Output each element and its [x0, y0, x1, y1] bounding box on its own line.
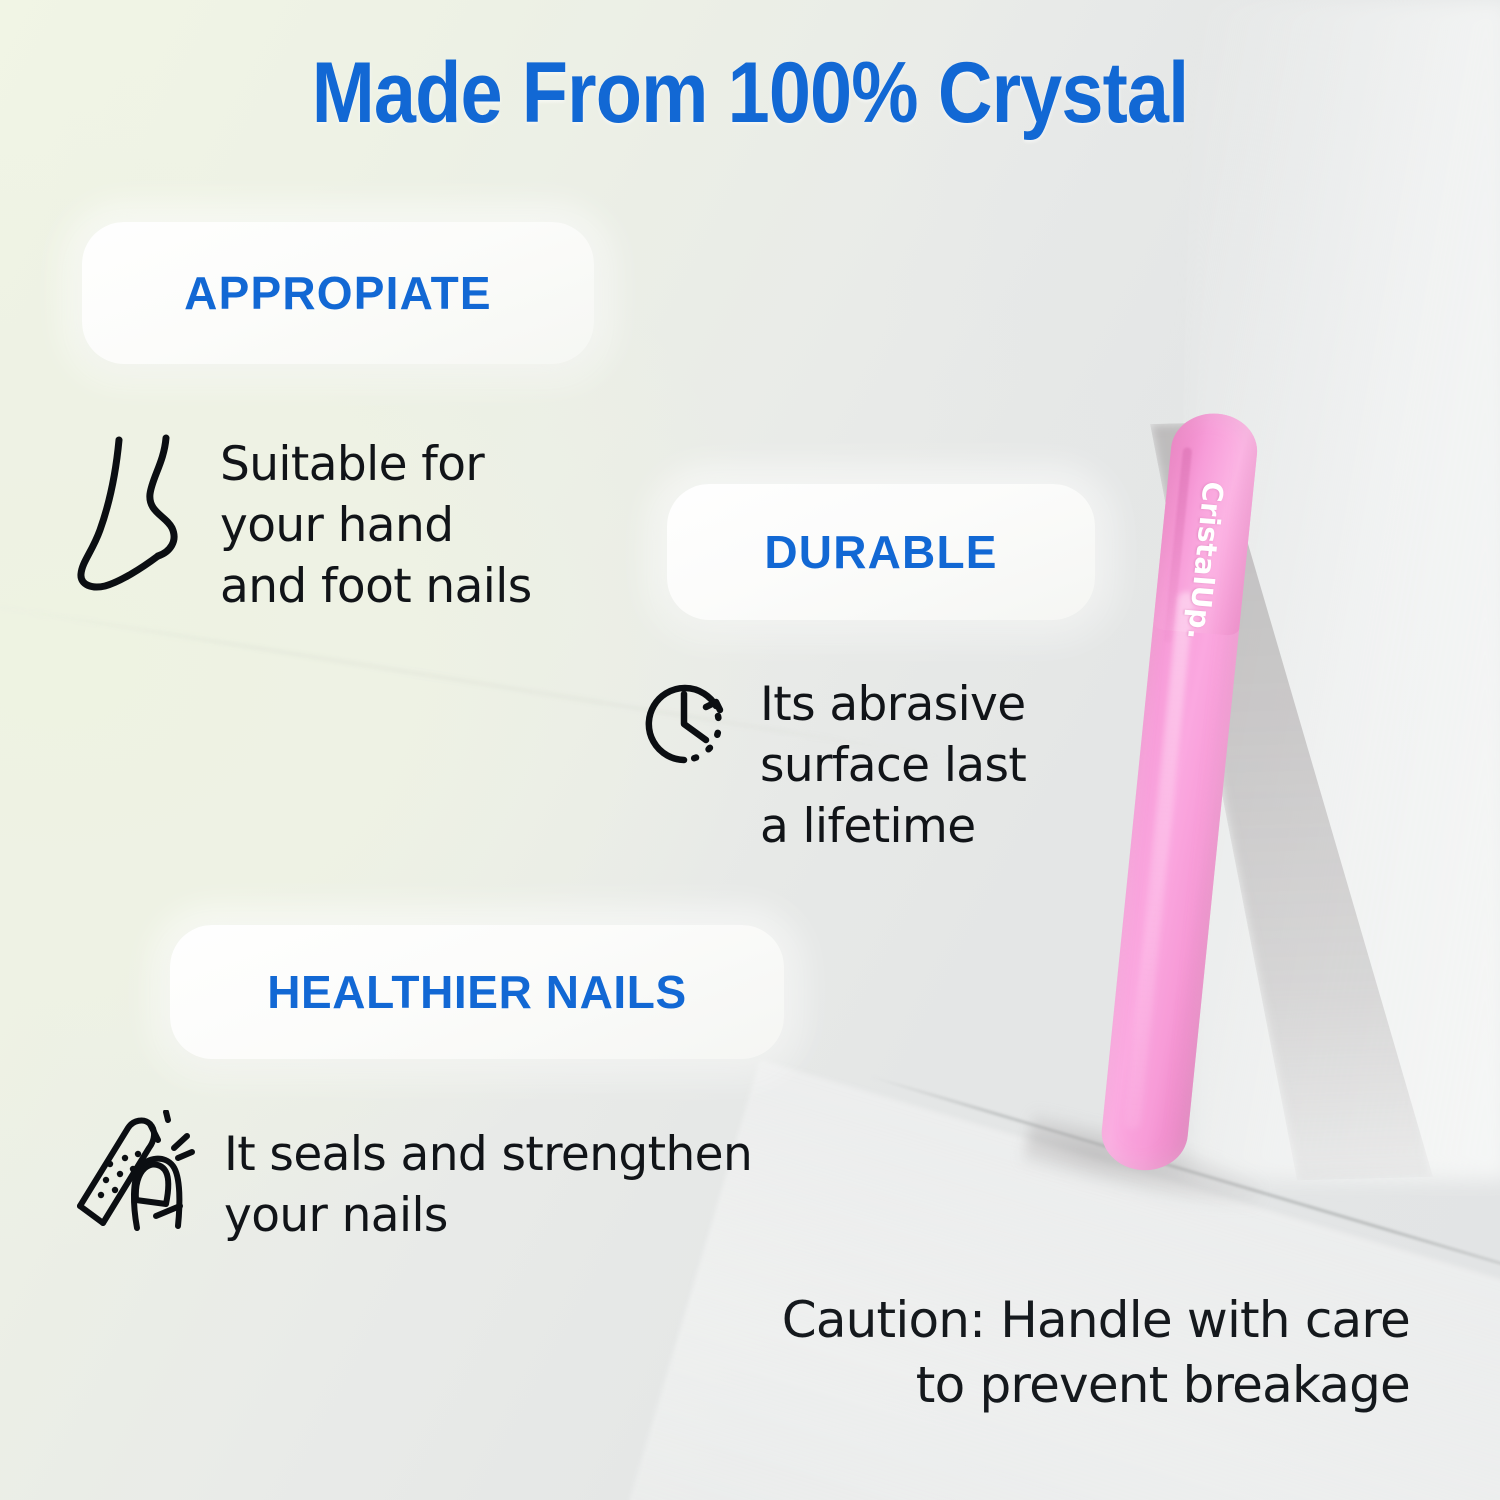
- feature-appropiate-line-2: your hand: [220, 495, 532, 556]
- badge-durable: DURABLE: [667, 484, 1095, 620]
- infographic-canvas: CristalUp. Made From 100% Crystal APPROP…: [0, 0, 1500, 1500]
- product-brand-text: CristalUp.: [1180, 480, 1229, 641]
- feature-healthier: It seals and strengthen your nails: [70, 1110, 900, 1246]
- feature-appropiate: Suitable for your hand and foot nails: [72, 428, 632, 617]
- feature-durable-line-3: a lifetime: [760, 796, 1026, 857]
- feature-appropiate-line-3: and foot nails: [220, 556, 532, 617]
- badge-healthier-nails-label: HEALTHIER NAILS: [170, 965, 784, 1019]
- feature-durable-line-1: Its abrasive: [760, 674, 1026, 735]
- feature-appropiate-line-1: Suitable for: [220, 434, 532, 495]
- clock-arrow-icon: [632, 672, 736, 781]
- feature-durable-line-2: surface last: [760, 735, 1026, 796]
- feature-durable-text: Its abrasive surface last a lifetime: [760, 674, 1026, 857]
- feature-healthier-line-2: your nails: [224, 1185, 752, 1246]
- feature-healthier-text: It seals and strengthen your nails: [224, 1124, 752, 1246]
- feature-healthier-line-1: It seals and strengthen: [224, 1124, 752, 1185]
- badge-appropiate: APPROPIATE: [82, 222, 594, 364]
- nail-file-highlight: [1124, 591, 1195, 1130]
- feature-durable: Its abrasive surface last a lifetime: [632, 672, 1102, 857]
- caution-line-2: to prevent breakage: [600, 1353, 1410, 1418]
- foot-icon: [72, 428, 192, 603]
- nail-file-icon: [70, 1110, 198, 1243]
- caution-note: Caution: Handle with care to prevent bre…: [600, 1288, 1410, 1418]
- page-title: Made From 100% Crystal: [90, 48, 1410, 138]
- badge-healthier-nails: HEALTHIER NAILS: [170, 925, 784, 1059]
- caution-line-1: Caution: Handle with care: [600, 1288, 1410, 1353]
- badge-appropiate-label: APPROPIATE: [82, 266, 594, 320]
- badge-durable-label: DURABLE: [667, 525, 1095, 579]
- feature-appropiate-text: Suitable for your hand and foot nails: [220, 434, 532, 617]
